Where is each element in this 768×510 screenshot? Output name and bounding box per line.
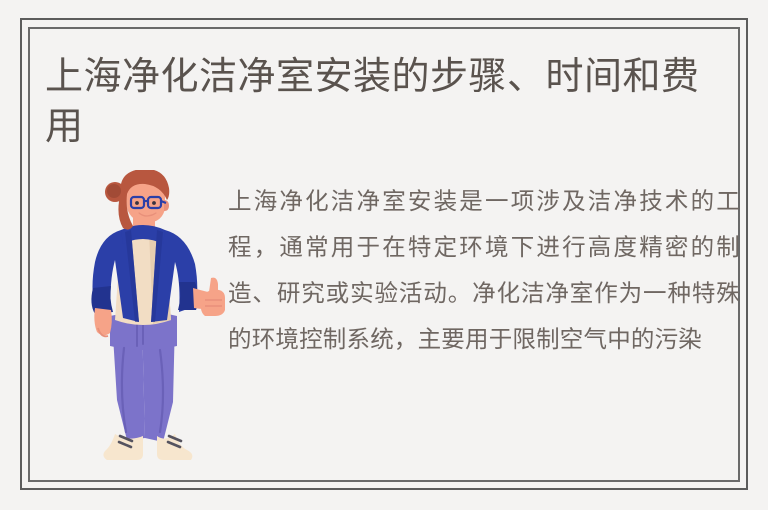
article-body-text: 上海净化洁净室安装是一项涉及洁净技术的工程，通常用于在特定环境下进行高度精密的制… — [228, 178, 740, 362]
page-root: 上海净化洁净室安装的步骤、时间和费用 — [0, 0, 768, 510]
person-thumbs-up-illustration — [65, 170, 225, 482]
page-title: 上海净化洁净室安装的步骤、时间和费用 — [45, 52, 737, 152]
article-content-row: 上海净化洁净室安装是一项涉及洁净技术的工程，通常用于在特定环境下进行高度精密的制… — [45, 168, 737, 468]
